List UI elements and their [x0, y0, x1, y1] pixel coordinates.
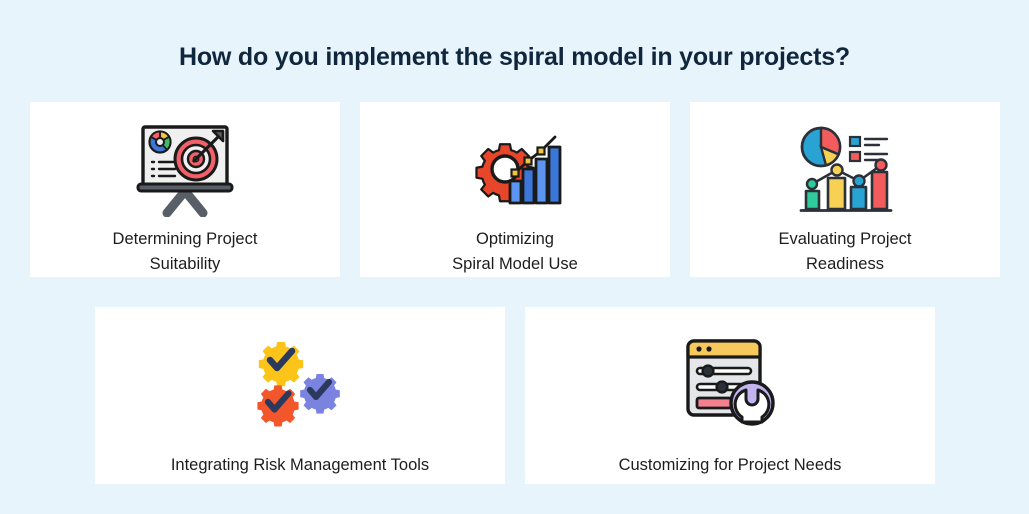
card-optimizing-spiral-model-use[interactable]: Optimizing Spiral Model Use	[360, 102, 670, 277]
analytics-dashboard-icon	[795, 120, 895, 217]
card-customizing-for-project-needs[interactable]: Customizing for Project Needs	[525, 307, 935, 484]
card-integrating-risk-management-tools[interactable]: Integrating Risk Management Tools	[95, 307, 505, 484]
settings-window-wrench-icon	[680, 331, 780, 431]
page-title: How do you implement the spiral model in…	[0, 40, 1029, 74]
card-evaluating-project-readiness[interactable]: Evaluating Project Readiness	[690, 102, 1000, 277]
gear-bar-chart-icon	[465, 120, 565, 217]
gears-checkmark-icon	[246, 331, 354, 431]
card-label: Evaluating Project Readiness	[779, 227, 912, 277]
card-determining-project-suitability[interactable]: Determining Project Suitability	[30, 102, 340, 277]
card-label: Customizing for Project Needs	[619, 453, 842, 478]
presentation-board-target-icon	[133, 120, 237, 217]
card-label: Integrating Risk Management Tools	[171, 453, 429, 478]
card-label: Optimizing Spiral Model Use	[452, 227, 578, 277]
card-label: Determining Project Suitability	[113, 227, 258, 277]
